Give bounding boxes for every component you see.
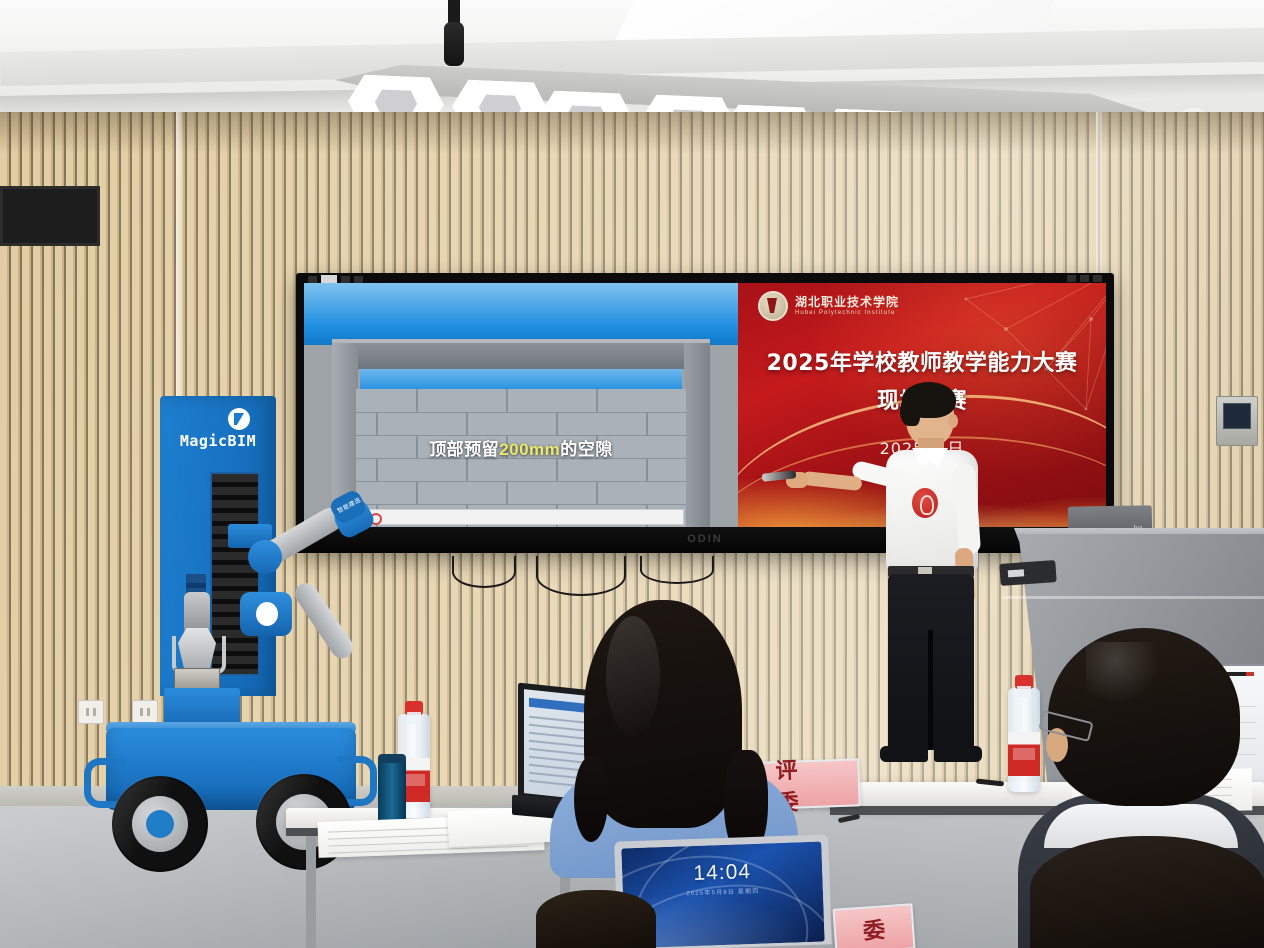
desk-leg	[306, 836, 316, 948]
judge-placard-text: 委	[862, 912, 886, 945]
thermos-flask[interactable]	[378, 760, 406, 828]
animation-caption-suffix: 的空隙	[560, 440, 613, 459]
ceiling-projector	[444, 22, 464, 66]
audience-hair-shoulder	[574, 756, 608, 842]
animation-caption-highlight: 200mm	[499, 440, 560, 459]
display-cable	[640, 556, 714, 584]
display-bezel-controls-left[interactable]	[308, 275, 363, 283]
audience-hair	[536, 890, 656, 948]
school-logo: 湖北职业技术学院 Hubei Polytechnic Institute	[758, 291, 899, 321]
left-screen-content: 顶部预留200mm的空隙	[304, 283, 738, 527]
presenter-badge	[912, 488, 938, 518]
podium-seam	[1002, 596, 1264, 599]
wall-control-panel[interactable]	[1216, 396, 1258, 446]
robot-arm-joint-3	[240, 592, 292, 636]
audience-bottom-right	[1018, 836, 1264, 948]
animation-lintel	[332, 343, 710, 369]
display-brand-label: ODIN	[687, 533, 723, 545]
presenter-ear	[948, 414, 958, 428]
audience-hair-highlight	[606, 616, 660, 736]
robot-arm-label: 智能建造	[335, 495, 362, 515]
magicbim-logo-icon	[228, 408, 250, 430]
animation-sky	[304, 283, 738, 345]
presenter	[860, 380, 1010, 790]
audience-front-left	[540, 600, 810, 868]
slide-title-line1: 2025年学校教师教学能力大赛	[738, 345, 1106, 377]
judge-placard: 委	[832, 903, 915, 948]
presenter-hair-side	[900, 394, 920, 426]
robot-arm-lower	[291, 579, 357, 663]
robot-wheel-highlight	[112, 776, 204, 868]
video-player-toolbar[interactable]	[366, 509, 684, 525]
robot-arm-joint-1	[248, 540, 282, 574]
animation-top-gap	[360, 369, 682, 389]
audience-bottom-center	[536, 890, 656, 948]
classroom-presentation-scene: 顶部预留200mm的空隙	[0, 0, 1264, 948]
school-name-en: Hubei Polytechnic Institute	[795, 310, 899, 316]
presenter-shoe-left	[880, 746, 928, 762]
animation-caption: 顶部预留200mm的空隙	[304, 435, 738, 460]
school-name-cn: 湖北职业技术学院	[795, 296, 899, 309]
display-bezel-controls-right[interactable]	[1067, 275, 1102, 282]
robot-brand-label: MagicBIM	[162, 432, 274, 450]
display-cable	[452, 556, 516, 588]
dark-acoustic-panel	[0, 186, 100, 246]
bricklaying-robot: MagicBIM 智能建造	[88, 396, 368, 872]
audience-hair	[1030, 836, 1264, 948]
presenter-leg-gap	[928, 630, 933, 750]
podium-control-box[interactable]	[999, 560, 1056, 586]
presenter-shoe-right	[934, 746, 982, 762]
bottle-neck	[407, 712, 421, 724]
school-crest-icon	[758, 291, 788, 321]
audience-hair-highlight	[1086, 642, 1160, 704]
robot-wrist	[184, 592, 210, 634]
animation-caption-prefix: 顶部预留	[429, 440, 499, 459]
display-cable	[536, 556, 626, 596]
